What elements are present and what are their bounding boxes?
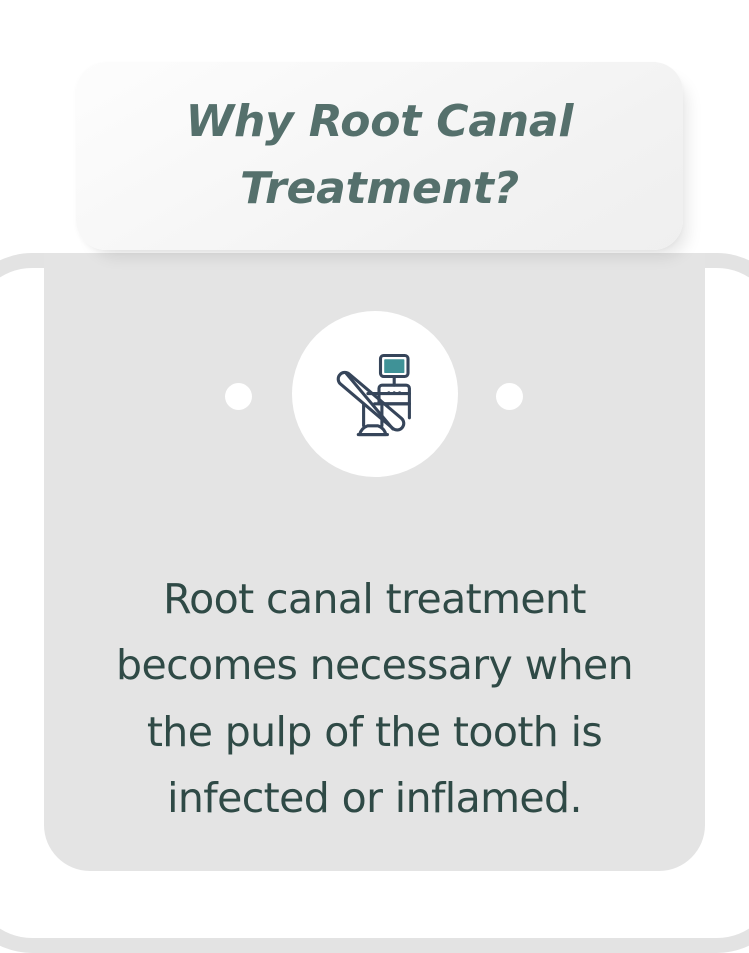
- slide-canvas: Why Root Canal Treatment?: [0, 0, 749, 930]
- icon-badge: [292, 311, 458, 477]
- icon-row: [44, 311, 705, 477]
- control-dots-icon: [387, 391, 401, 394]
- decorative-dot-left-icon: [225, 383, 252, 410]
- decorative-dot-right-icon: [496, 383, 523, 410]
- monitor-screen-icon: [384, 359, 404, 373]
- dental-chair-icon: [323, 342, 427, 446]
- header-card: Why Root Canal Treatment?: [76, 62, 683, 250]
- page-title: Why Root Canal Treatment?: [146, 89, 614, 223]
- body-text: Root canal treatment becomes necessary w…: [44, 566, 705, 832]
